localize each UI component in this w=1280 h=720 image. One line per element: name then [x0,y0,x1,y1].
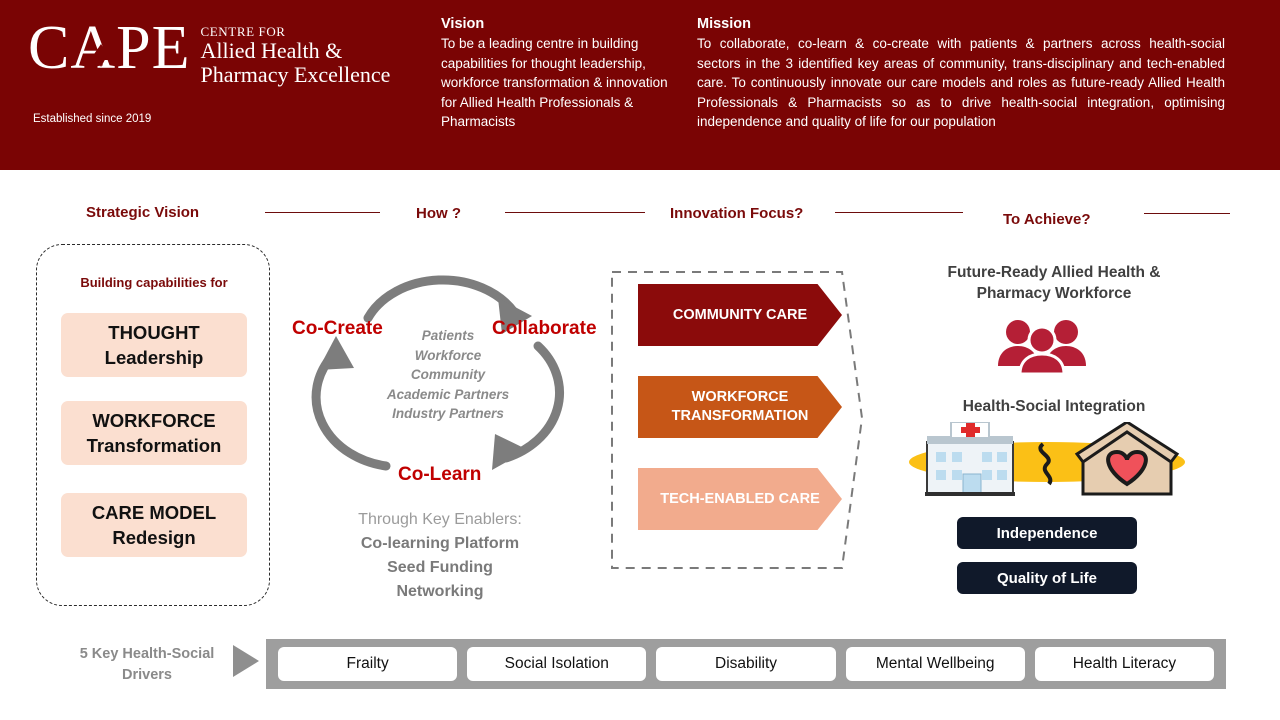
innovation-banner-tech-enabled-care[interactable]: TECH-ENABLED CARE [638,468,842,530]
section-divider-1 [265,212,380,213]
driver-pill-disability[interactable]: Disability [656,647,835,681]
logo-subtitle-line1: CENTRE FOR [200,24,390,39]
achieve-badge-quality-of-life[interactable]: Quality of Life [957,562,1137,594]
drivers-bar: Frailty Social Isolation Disability Ment… [266,639,1226,689]
established-text: Established since 2019 [33,113,151,125]
infographic-canvas: CAPE CENTRE FOR Allied Health & Pharmacy… [0,0,1280,720]
key-enabler-item: Networking [334,580,546,604]
capability-card-workforce-transformation[interactable]: WORKFORCE Transformation [61,401,247,465]
section-divider-4 [1144,213,1230,214]
driver-pill-health-literacy[interactable]: Health Literacy [1035,647,1214,681]
capability-line1: WORKFORCE [92,408,215,433]
key-enablers-lead: Through Key Enablers: [334,508,546,532]
vision-title: Vision [441,16,673,32]
driver-pill-frailty[interactable]: Frailty [278,647,457,681]
key-enablers-block: Through Key Enablers: Co-learning Platfo… [334,508,546,604]
mission-body: To collaborate, co-learn & co-create wit… [697,34,1225,132]
innovation-banner-label: COMMUNITY CARE [654,306,826,325]
capability-card-thought-leadership[interactable]: THOUGHT Leadership [61,313,247,377]
collaboration-cycle: Co-Create Collaborate Co-Learn Patients … [292,262,604,502]
capability-line2: Leadership [105,345,204,370]
cape-logo: CAPE CENTRE FOR Allied Health & Pharmacy… [28,18,390,87]
innovation-banner-workforce-transformation[interactable]: WORKFORCE TRANSFORMATION [638,376,842,438]
driver-pill-social-isolation[interactable]: Social Isolation [467,647,646,681]
capability-line1: CARE MODEL [92,500,216,525]
achieve-workforce-title: Future-Ready Allied Health & Pharmacy Wo… [914,262,1194,304]
logo-subtitle-line2: Allied Health & [200,39,390,63]
key-enabler-item: Seed Funding [334,556,546,580]
capability-line1: THOUGHT [108,320,199,345]
mission-block: Mission To collaborate, co-learn & co-cr… [697,16,1225,132]
vision-block: Vision To be a leading centre in buildin… [441,16,673,132]
key-enabler-item: Co-learning Platform [334,532,546,556]
hospital-to-home-icon [905,422,1189,498]
section-divider-3 [835,212,963,213]
vision-body: To be a leading centre in building capab… [441,34,673,132]
achieve-badge-independence[interactable]: Independence [957,517,1137,549]
drivers-label: 5 Key Health-Social Drivers [62,644,232,686]
logo-subtitle: CENTRE FOR Allied Health & Pharmacy Exce… [200,24,390,87]
cycle-stakeholders: Patients Workforce Community Academic Pa… [348,326,548,424]
people-group-icon [996,318,1088,374]
logo-subtitle-line3: Pharmacy Excellence [200,63,390,87]
innovation-focus-panel: COMMUNITY CARE WORKFORCE TRANSFORMATION … [606,268,870,578]
section-heading-innovation-focus: Innovation Focus? [670,205,803,222]
logo-star-lower-icon [94,54,108,67]
capability-line2: Transformation [87,433,222,458]
capability-card-care-model-redesign[interactable]: CARE MODEL Redesign [61,493,247,557]
driver-pill-mental-wellbeing[interactable]: Mental Wellbeing [846,647,1025,681]
achieve-integration-title: Health-Social Integration [914,398,1194,416]
strategic-vision-panel: Building capabilities for THOUGHT Leader… [36,244,270,606]
triangle-right-icon [233,645,259,677]
mission-title: Mission [697,16,1225,32]
section-heading-how: How ? [416,205,461,222]
cycle-node-co-learn[interactable]: Co-Learn [398,464,481,486]
header-band: CAPE CENTRE FOR Allied Health & Pharmacy… [0,0,1280,170]
innovation-banner-label: TECH-ENABLED CARE [654,490,826,509]
section-divider-2 [505,212,645,213]
innovation-banner-label: WORKFORCE TRANSFORMATION [654,388,826,426]
section-heading-strategic-vision: Strategic Vision [86,204,199,221]
strategic-vision-caption: Building capabilities for [37,275,271,290]
innovation-banner-community-care[interactable]: COMMUNITY CARE [638,284,842,346]
capability-line2: Redesign [112,525,195,550]
section-heading-to-achieve: To Achieve? [1003,211,1091,228]
